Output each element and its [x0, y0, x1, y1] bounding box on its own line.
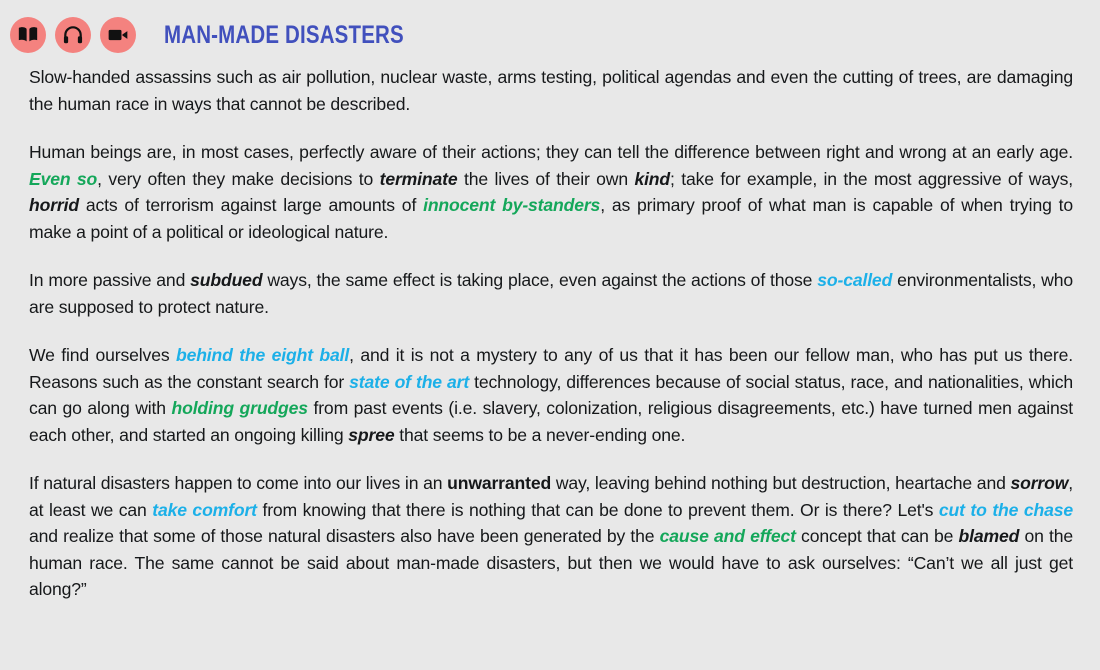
- paragraph-2: Human beings are, in most cases, perfect…: [29, 139, 1073, 245]
- bold-italic-run: kind: [634, 169, 670, 189]
- cyan-highlight-run: cut to the chase: [939, 500, 1073, 520]
- bold-run: unwarranted: [447, 473, 551, 493]
- article-header: MAN-MADE DISASTERS: [0, 0, 1100, 58]
- cyan-highlight-run: so-called: [817, 270, 892, 290]
- page-title-wrap: MAN-MADE DISASTERS: [164, 22, 457, 48]
- green-highlight-run: innocent by-standers: [423, 195, 600, 215]
- book-icon[interactable]: [10, 17, 46, 53]
- green-highlight-run: cause and effect: [660, 526, 796, 546]
- video-camera-icon[interactable]: [100, 17, 136, 53]
- cyan-highlight-run: behind the eight ball: [176, 345, 349, 365]
- green-highlight-run: Even so: [29, 169, 97, 189]
- paragraph-1: Slow-handed assassins such as air pollut…: [29, 64, 1073, 117]
- article-body: Slow-handed assassins such as air pollut…: [0, 58, 1100, 603]
- green-highlight-run: holding grudges: [172, 398, 308, 418]
- page-title: MAN-MADE DISASTERS: [164, 22, 404, 48]
- paragraph-5: If natural disasters happen to come into…: [29, 470, 1073, 603]
- bold-italic-run: sorrow: [1010, 473, 1068, 493]
- bold-italic-run: horrid: [29, 195, 79, 215]
- article-page: MAN-MADE DISASTERS Slow-handed assassins…: [0, 0, 1100, 670]
- cyan-highlight-run: take comfort: [152, 500, 257, 520]
- cyan-highlight-run: state of the art: [349, 372, 469, 392]
- headphones-icon[interactable]: [55, 17, 91, 53]
- bold-italic-run: blamed: [959, 526, 1020, 546]
- paragraph-4: We find ourselves behind the eight ball,…: [29, 342, 1073, 448]
- bold-italic-run: spree: [348, 425, 394, 445]
- paragraph-3: In more passive and subdued ways, the sa…: [29, 267, 1073, 320]
- bold-italic-run: terminate: [380, 169, 458, 189]
- bold-italic-run: subdued: [190, 270, 262, 290]
